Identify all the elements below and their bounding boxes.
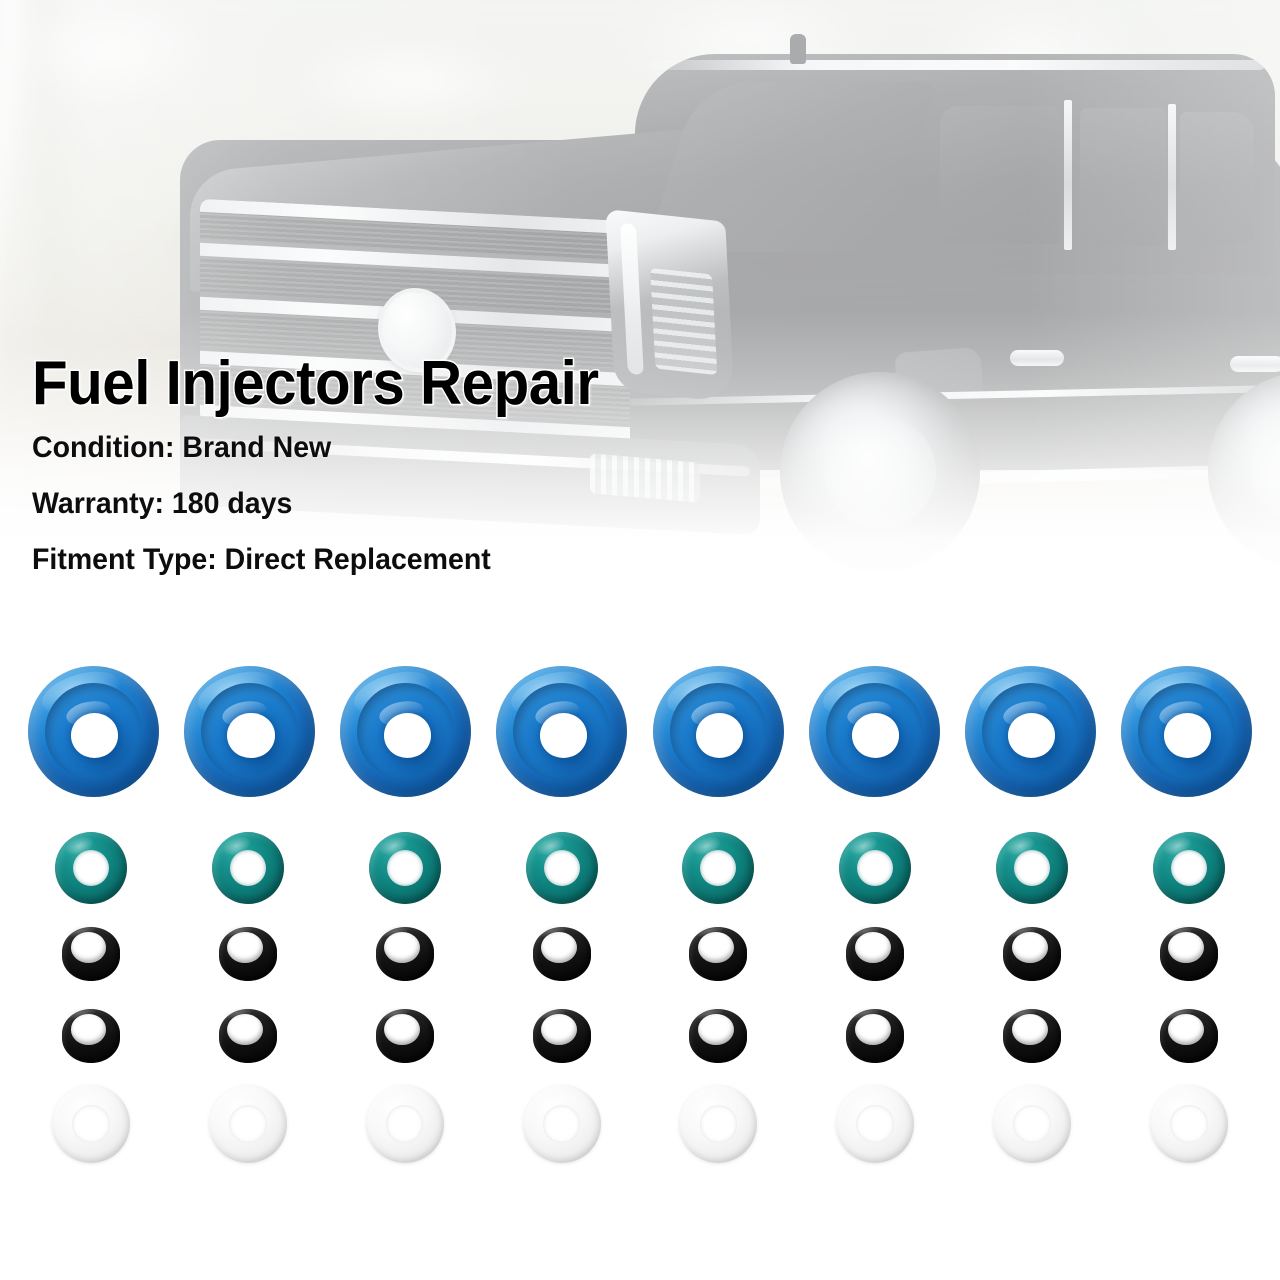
o-ring-center-hole [700, 850, 736, 886]
seal-center-hole [540, 713, 587, 758]
product-listing-image: Fuel Injectors Repair Condition: Brand N… [0, 0, 1280, 1280]
seal-center-hole [1164, 713, 1211, 758]
black-bushing-ring [531, 923, 593, 985]
black-bushing-ring [60, 1005, 122, 1067]
white-washers-row [0, 1085, 1280, 1169]
black-bushing-ring [844, 1005, 906, 1067]
product-text-block: Fuel Injectors Repair Condition: Brand N… [32, 352, 1032, 575]
clear-white-washer [1150, 1085, 1228, 1163]
blue-injector-seal [184, 666, 315, 797]
black-bushing-ring [687, 923, 749, 985]
seal-center-hole [227, 713, 274, 758]
black-bushing-ring [1001, 1005, 1063, 1067]
o-ring-center-hole [73, 850, 109, 886]
black-rings-upper-row [0, 923, 1280, 989]
black-bushing-ring [531, 1005, 593, 1067]
o-ring-center-hole [1171, 850, 1207, 886]
blue-injector-seal [496, 666, 627, 797]
black-bushing-ring [1158, 1005, 1220, 1067]
black-bushing-ring [374, 923, 436, 985]
clear-white-washer [993, 1085, 1071, 1163]
teal-o-ring [369, 832, 441, 904]
clear-white-washer [679, 1085, 757, 1163]
teal-o-rings-row [0, 832, 1280, 908]
black-bushing-ring [1158, 923, 1220, 985]
clear-white-washer [209, 1085, 287, 1163]
page-title: Fuel Injectors Repair [32, 352, 972, 415]
black-bushing-ring [217, 923, 279, 985]
clear-white-washer [366, 1085, 444, 1163]
black-rings-lower-row [0, 1005, 1280, 1071]
black-bushing-ring [687, 1005, 749, 1067]
seal-center-hole [1008, 713, 1055, 758]
washer-center-hole [700, 1105, 737, 1142]
teal-o-ring [212, 832, 284, 904]
o-ring-center-hole [387, 850, 423, 886]
teal-o-ring [1153, 832, 1225, 904]
black-bushing-ring [217, 1005, 279, 1067]
o-ring-center-hole [544, 850, 580, 886]
washer-center-hole [386, 1105, 423, 1142]
washer-center-hole [1013, 1105, 1050, 1142]
clear-white-washer [836, 1085, 914, 1163]
washer-center-hole [1170, 1105, 1207, 1142]
blue-injector-seal [965, 666, 1096, 797]
spec-fitment-type: Fitment Type: Direct Replacement [32, 545, 982, 575]
blue-injector-seal [1121, 666, 1252, 797]
blue-injector-seals-row [0, 666, 1280, 806]
seal-center-hole [384, 713, 431, 758]
teal-o-ring [55, 832, 127, 904]
blue-injector-seal [809, 666, 940, 797]
seal-center-hole [852, 713, 899, 758]
washer-center-hole [72, 1105, 109, 1142]
clear-white-washer [523, 1085, 601, 1163]
parts-kit-photo [0, 640, 1280, 1260]
black-bushing-ring [844, 923, 906, 985]
blue-injector-seal [28, 666, 159, 797]
o-ring-center-hole [230, 850, 266, 886]
black-bushing-ring [374, 1005, 436, 1067]
seal-center-hole [71, 713, 118, 758]
seal-center-hole [696, 713, 743, 758]
teal-o-ring [526, 832, 598, 904]
spec-condition: Condition: Brand New [32, 433, 982, 463]
black-bushing-ring [60, 923, 122, 985]
blue-injector-seal [340, 666, 471, 797]
washer-center-hole [856, 1105, 893, 1142]
teal-o-ring [682, 832, 754, 904]
o-ring-center-hole [857, 850, 893, 886]
black-bushing-ring [1001, 923, 1063, 985]
blue-injector-seal [653, 666, 784, 797]
teal-o-ring [996, 832, 1068, 904]
washer-center-hole [229, 1105, 266, 1142]
o-ring-center-hole [1014, 850, 1050, 886]
washer-center-hole [543, 1105, 580, 1142]
clear-white-washer [52, 1085, 130, 1163]
spec-warranty: Warranty: 180 days [32, 489, 982, 519]
teal-o-ring [839, 832, 911, 904]
